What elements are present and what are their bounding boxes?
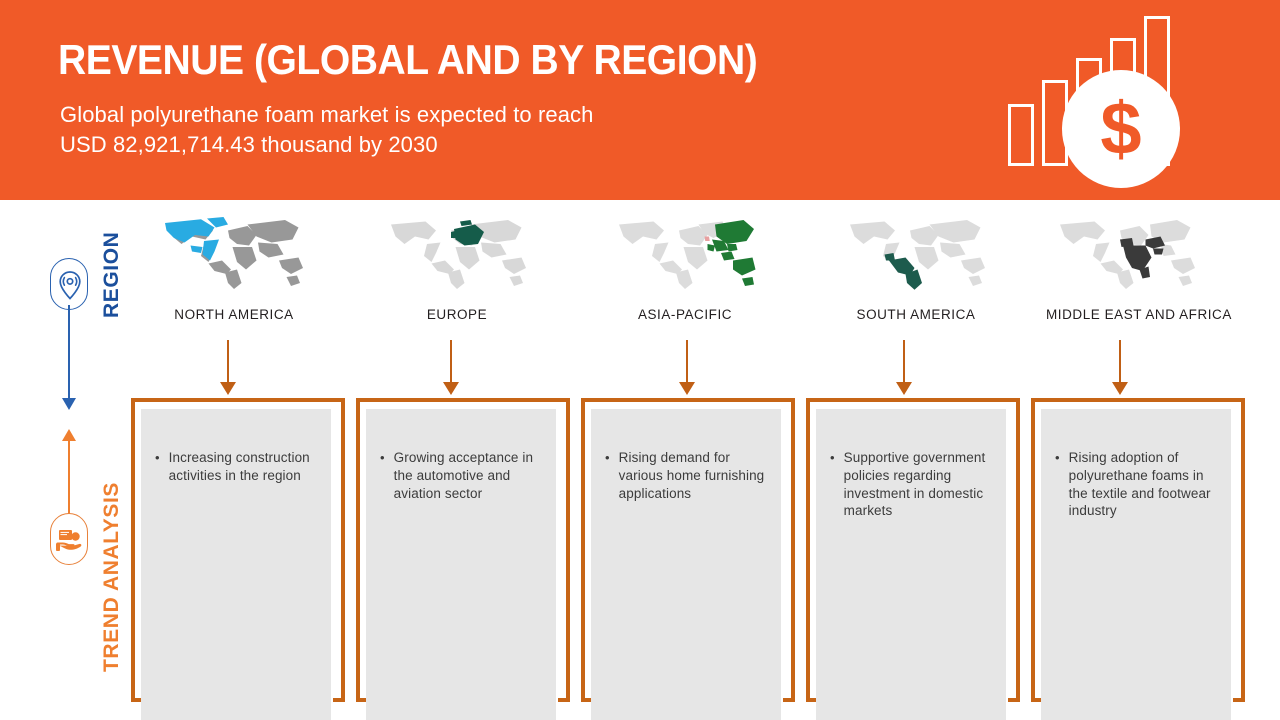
location-pin-icon xyxy=(51,259,89,311)
connector-arrow-4 xyxy=(896,382,912,395)
bullet-text: Increasing construction activities in th… xyxy=(169,449,315,485)
bracket-left-leg xyxy=(356,398,360,702)
bracket-right-leg xyxy=(791,398,795,702)
list-item: • Supportive government policies regardi… xyxy=(830,449,990,520)
region-arrow-down-icon xyxy=(62,398,76,410)
bullet-dot: • xyxy=(155,449,160,485)
list-item: • Increasing construction activities in … xyxy=(155,449,315,485)
world-map-north-america-icon xyxy=(158,212,310,294)
connector-arrow-2 xyxy=(443,382,459,395)
bullet-dot: • xyxy=(830,449,835,520)
bracket-europe: • Growing acceptance in the automotive a… xyxy=(356,398,570,720)
bracket-top-bar xyxy=(131,398,345,402)
bracket-top-bar xyxy=(581,398,795,402)
page-title: REVENUE (GLOBAL AND BY REGION) xyxy=(58,36,757,84)
header-subtitle: Global polyurethane foam market is expec… xyxy=(60,100,594,161)
region-label-south-america: SOUTH AMERICA xyxy=(840,307,992,322)
header-subtitle-line2: USD 82,921,714.43 thousand by 2030 xyxy=(60,130,594,160)
bullet-text: Supportive government policies regarding… xyxy=(844,449,990,520)
bracket-right-leg xyxy=(341,398,345,702)
connector-line-1 xyxy=(227,340,229,384)
bracket-top-bar xyxy=(356,398,570,402)
region-label-middle-east-africa: MIDDLE EAST AND AFRICA xyxy=(1046,307,1206,322)
bracket-right-foot xyxy=(558,698,570,702)
list-item: • Growing acceptance in the automotive a… xyxy=(380,449,540,502)
bracket-left-leg xyxy=(806,398,810,702)
region-label-north-america: NORTH AMERICA xyxy=(158,307,310,322)
highlight-south-america xyxy=(885,253,923,290)
bracket-asia-pacific: • Rising demand for various home furnish… xyxy=(581,398,795,720)
bracket-right-leg xyxy=(566,398,570,702)
bracket-right-foot xyxy=(333,698,345,702)
world-map-south-america-icon xyxy=(840,212,992,294)
highlight-north-america xyxy=(165,217,228,261)
list-item: • Rising adoption of polyurethane foams … xyxy=(1055,449,1215,520)
bracket-right-foot xyxy=(1233,698,1245,702)
bracket-top-bar xyxy=(806,398,1020,402)
list-item: • Rising demand for various home furnish… xyxy=(605,449,765,502)
card-middle-east-africa: • Rising adoption of polyurethane foams … xyxy=(1041,409,1231,720)
bullet-dot: • xyxy=(605,449,610,502)
card-europe: • Growing acceptance in the automotive a… xyxy=(366,409,556,720)
card-south-america: • Supportive government policies regardi… xyxy=(816,409,1006,720)
card-north-america: • Increasing construction activities in … xyxy=(141,409,331,720)
world-map-asia-pacific-icon xyxy=(609,212,761,294)
bracket-north-america: • Increasing construction activities in … xyxy=(131,398,345,720)
connector-line-5 xyxy=(1119,340,1121,384)
trend-rail-label: TREND ANALYSIS xyxy=(100,482,124,672)
region-label-asia-pacific: ASIA-PACIFIC xyxy=(609,307,761,322)
money-bar-chart-icon: $ xyxy=(1000,18,1210,188)
connector-arrow-3 xyxy=(679,382,695,395)
header-subtitle-line1: Global polyurethane foam market is expec… xyxy=(60,100,594,130)
connector-arrow-5 xyxy=(1112,382,1128,395)
bracket-right-foot xyxy=(783,698,795,702)
region-rail-label: REGION xyxy=(100,232,124,318)
bullet-dot: • xyxy=(380,449,385,502)
header-banner: REVENUE (GLOBAL AND BY REGION) Global po… xyxy=(0,0,1280,200)
bracket-south-america: • Supportive government policies regardi… xyxy=(806,398,1020,720)
bullet-text: Rising demand for various home furnishin… xyxy=(619,449,765,502)
bullet-list-europe: • Growing acceptance in the automotive a… xyxy=(366,409,556,502)
connector-line-4 xyxy=(903,340,905,384)
world-map-middle-east-africa-icon xyxy=(1046,212,1206,294)
bullet-dot: • xyxy=(1055,449,1060,520)
bar-1 xyxy=(1008,104,1034,166)
region-connector-line xyxy=(68,305,70,400)
world-map-europe-icon xyxy=(381,212,533,294)
bracket-top-bar xyxy=(1031,398,1245,402)
connector-line-3 xyxy=(686,340,688,384)
card-asia-pacific: • Rising demand for various home furnish… xyxy=(591,409,781,720)
bracket-right-foot xyxy=(1008,698,1020,702)
region-badge xyxy=(50,258,88,310)
connector-line-2 xyxy=(450,340,452,384)
bullet-text: Growing acceptance in the automotive and… xyxy=(394,449,540,502)
hand-holding-report-icon xyxy=(51,514,89,566)
connector-arrow-1 xyxy=(220,382,236,395)
coin-circle: $ xyxy=(1062,70,1180,188)
bullet-list-middle-east-africa: • Rising adoption of polyurethane foams … xyxy=(1041,409,1231,520)
bracket-left-leg xyxy=(1031,398,1035,702)
bullet-list-asia-pacific: • Rising demand for various home furnish… xyxy=(591,409,781,502)
bracket-left-leg xyxy=(581,398,585,702)
infographic-page: REVENUE (GLOBAL AND BY REGION) Global po… xyxy=(0,0,1280,720)
bullet-list-south-america: • Supportive government policies regardi… xyxy=(816,409,1006,520)
bracket-right-leg xyxy=(1016,398,1020,702)
trend-badge xyxy=(50,513,88,565)
bracket-middle-east-africa: • Rising adoption of polyurethane foams … xyxy=(1031,398,1245,720)
bullet-text: Rising adoption of polyurethane foams in… xyxy=(1069,449,1215,520)
bracket-right-leg xyxy=(1241,398,1245,702)
dollar-sign-icon: $ xyxy=(1062,70,1180,188)
region-label-europe: EUROPE xyxy=(381,307,533,322)
bracket-left-leg xyxy=(131,398,135,702)
bullet-list-north-america: • Increasing construction activities in … xyxy=(141,409,331,485)
